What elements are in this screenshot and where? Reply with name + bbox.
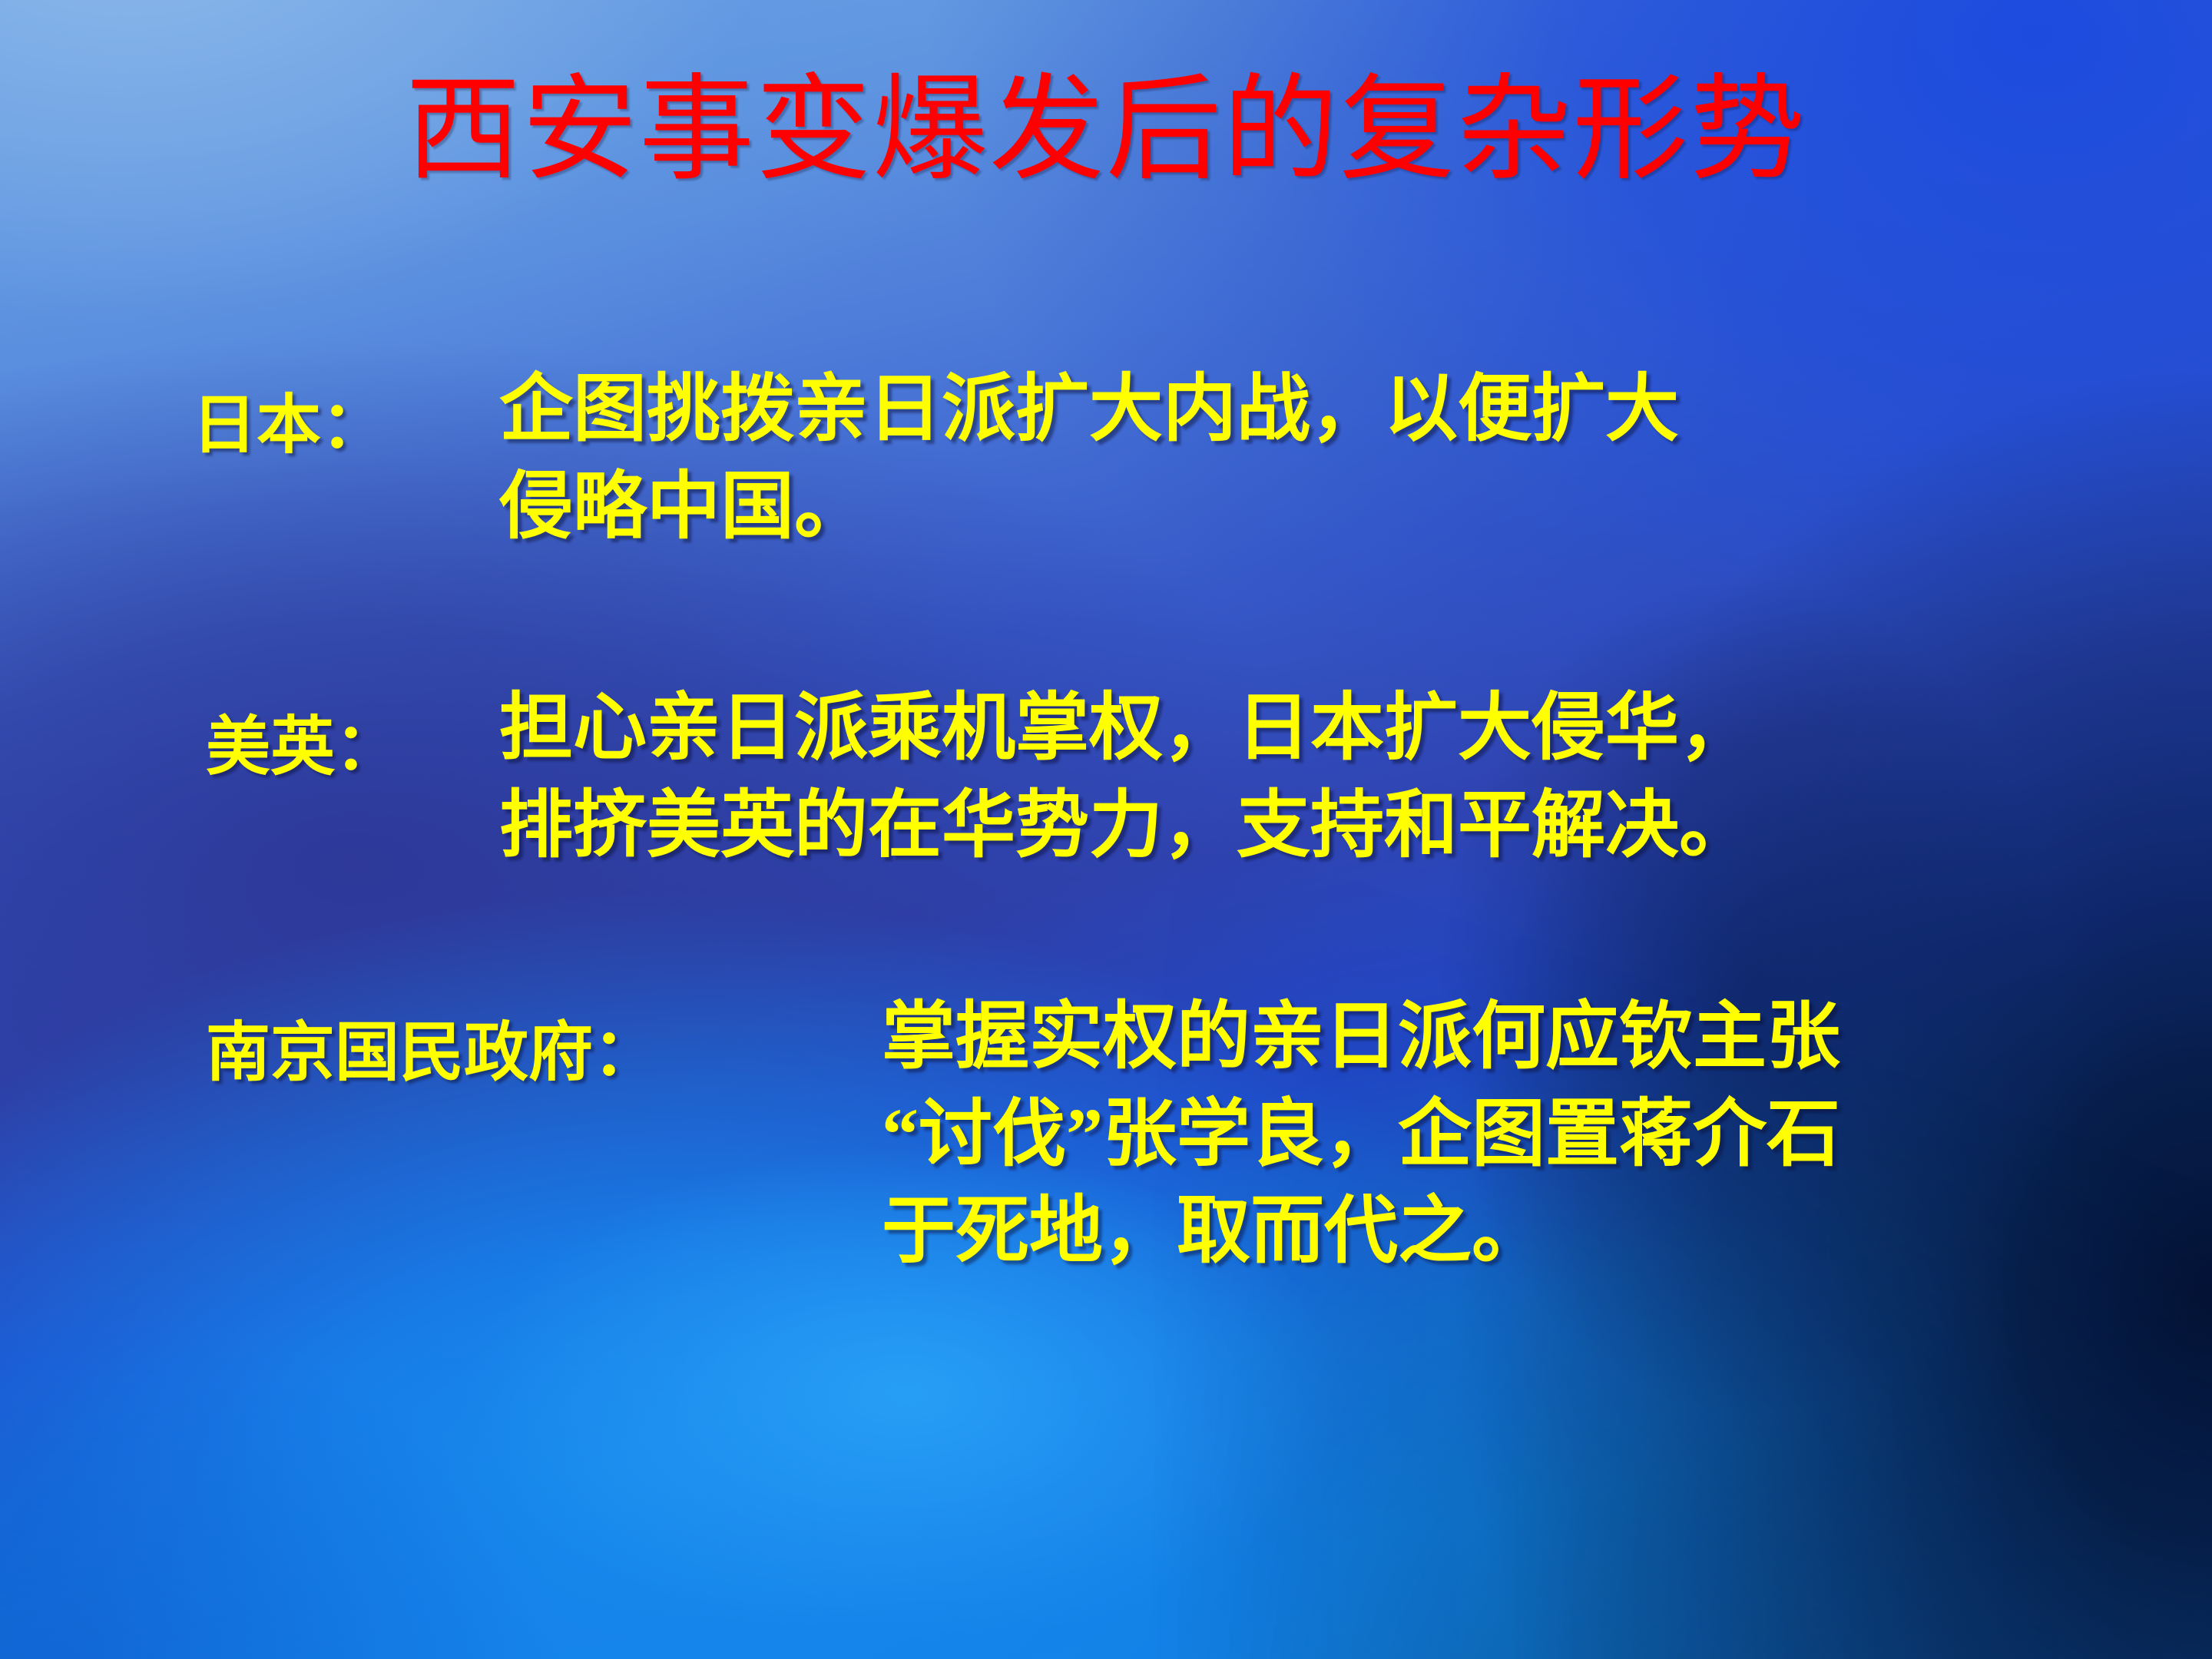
body-line: 掌握实权的亲日派何应钦主张 [882,988,1840,1086]
slide-content: 西安事变爆发后的复杂形势 日本： 企图挑拨亲日派扩大内战，以便扩大 侵略中国。 … [0,0,2212,1659]
presentation-slide: 西安事变爆发后的复杂形势 日本： 企图挑拨亲日派扩大内战，以便扩大 侵略中国。 … [0,0,2212,1659]
block-label-us-uk: 美英： [206,680,499,787]
block-body-us-uk: 担心亲日派乘机掌权，日本扩大侵华， 排挤美英的在华势力，支持和平解决。 [499,680,1753,874]
body-line: 侵略中国。 [499,459,1679,556]
body-line: 企图挑拨亲日派扩大内战，以便扩大 [499,361,1679,459]
block-label-nanjing-government: 南京国民政府： [206,988,882,1093]
slide-title: 西安事变爆发后的复杂形势 [0,71,2212,192]
content-block-nanjing-government: 南京国民政府： 掌握实权的亲日派何应钦主张 “讨伐”张学良，企图置蒋介石 于死地… [206,988,2212,1280]
body-line: “讨伐”张学良，企图置蒋介石 [882,1086,1840,1184]
block-body-japan: 企图挑拨亲日派扩大内战，以便扩大 侵略中国。 [499,361,1679,555]
block-body-nanjing-government: 掌握实权的亲日派何应钦主张 “讨伐”张学良，企图置蒋介石 于死地，取而代之。 [882,988,1840,1280]
content-block-us-uk: 美英： 担心亲日派乘机掌权，日本扩大侵华， 排挤美英的在华势力，支持和平解决。 [206,680,2212,874]
body-line: 排挤美英的在华势力，支持和平解决。 [499,777,1753,875]
body-line: 于死地，取而代之。 [882,1183,1840,1280]
block-label-japan: 日本： [192,361,499,465]
slide-body-list: 日本： 企图挑拨亲日派扩大内战，以便扩大 侵略中国。 美英： 担心亲日派乘机掌权… [0,361,2212,1280]
body-line: 担心亲日派乘机掌权，日本扩大侵华， [499,680,1753,777]
content-block-japan: 日本： 企图挑拨亲日派扩大内战，以便扩大 侵略中国。 [192,361,2212,555]
